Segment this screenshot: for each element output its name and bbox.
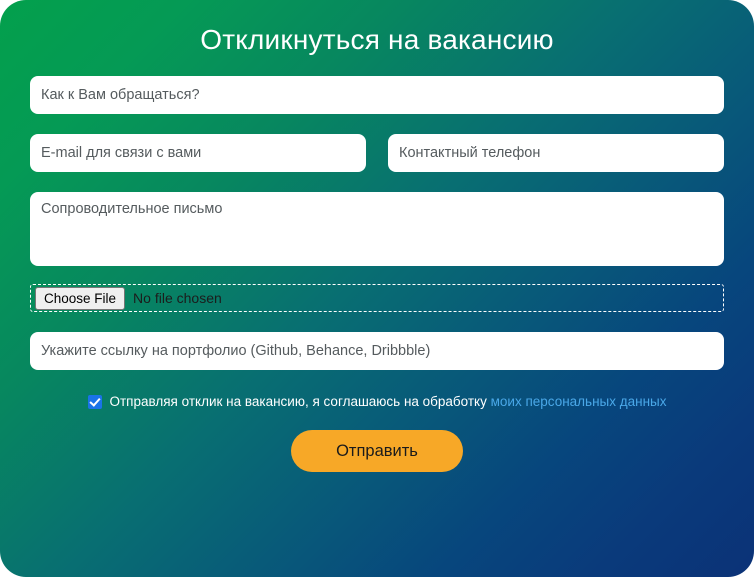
portfolio-link-input[interactable]	[30, 332, 724, 370]
file-status-label: No file chosen	[133, 290, 222, 306]
consent-text: Отправляя отклик на вакансию, я соглашаю…	[110, 394, 487, 409]
form-body: Choose File No file chosen Отправляя отк…	[0, 76, 754, 472]
consent-row: Отправляя отклик на вакансию, я соглашаю…	[30, 394, 724, 410]
phone-input[interactable]	[388, 134, 724, 172]
page-title: Откликнуться на вакансию	[0, 0, 754, 56]
name-field-row	[30, 76, 724, 114]
contact-field-row	[30, 134, 724, 172]
resume-file-input[interactable]: Choose File No file chosen	[30, 284, 724, 312]
portfolio-field-row	[30, 332, 724, 370]
consent-label: Отправляя отклик на вакансию, я соглашаю…	[110, 394, 667, 410]
name-input[interactable]	[30, 76, 724, 114]
phone-field-wrapper	[388, 134, 724, 172]
submit-button[interactable]: Отправить	[291, 430, 463, 472]
personal-data-link[interactable]: моих персональных данных	[491, 394, 667, 409]
job-application-form-card: Откликнуться на вакансию Choose File No …	[0, 0, 754, 577]
email-field-wrapper	[30, 134, 366, 172]
email-input[interactable]	[30, 134, 366, 172]
consent-checkbox[interactable]	[88, 395, 102, 409]
cover-letter-textarea[interactable]	[30, 192, 724, 266]
choose-file-button[interactable]: Choose File	[35, 287, 125, 310]
submit-row: Отправить	[30, 430, 724, 472]
